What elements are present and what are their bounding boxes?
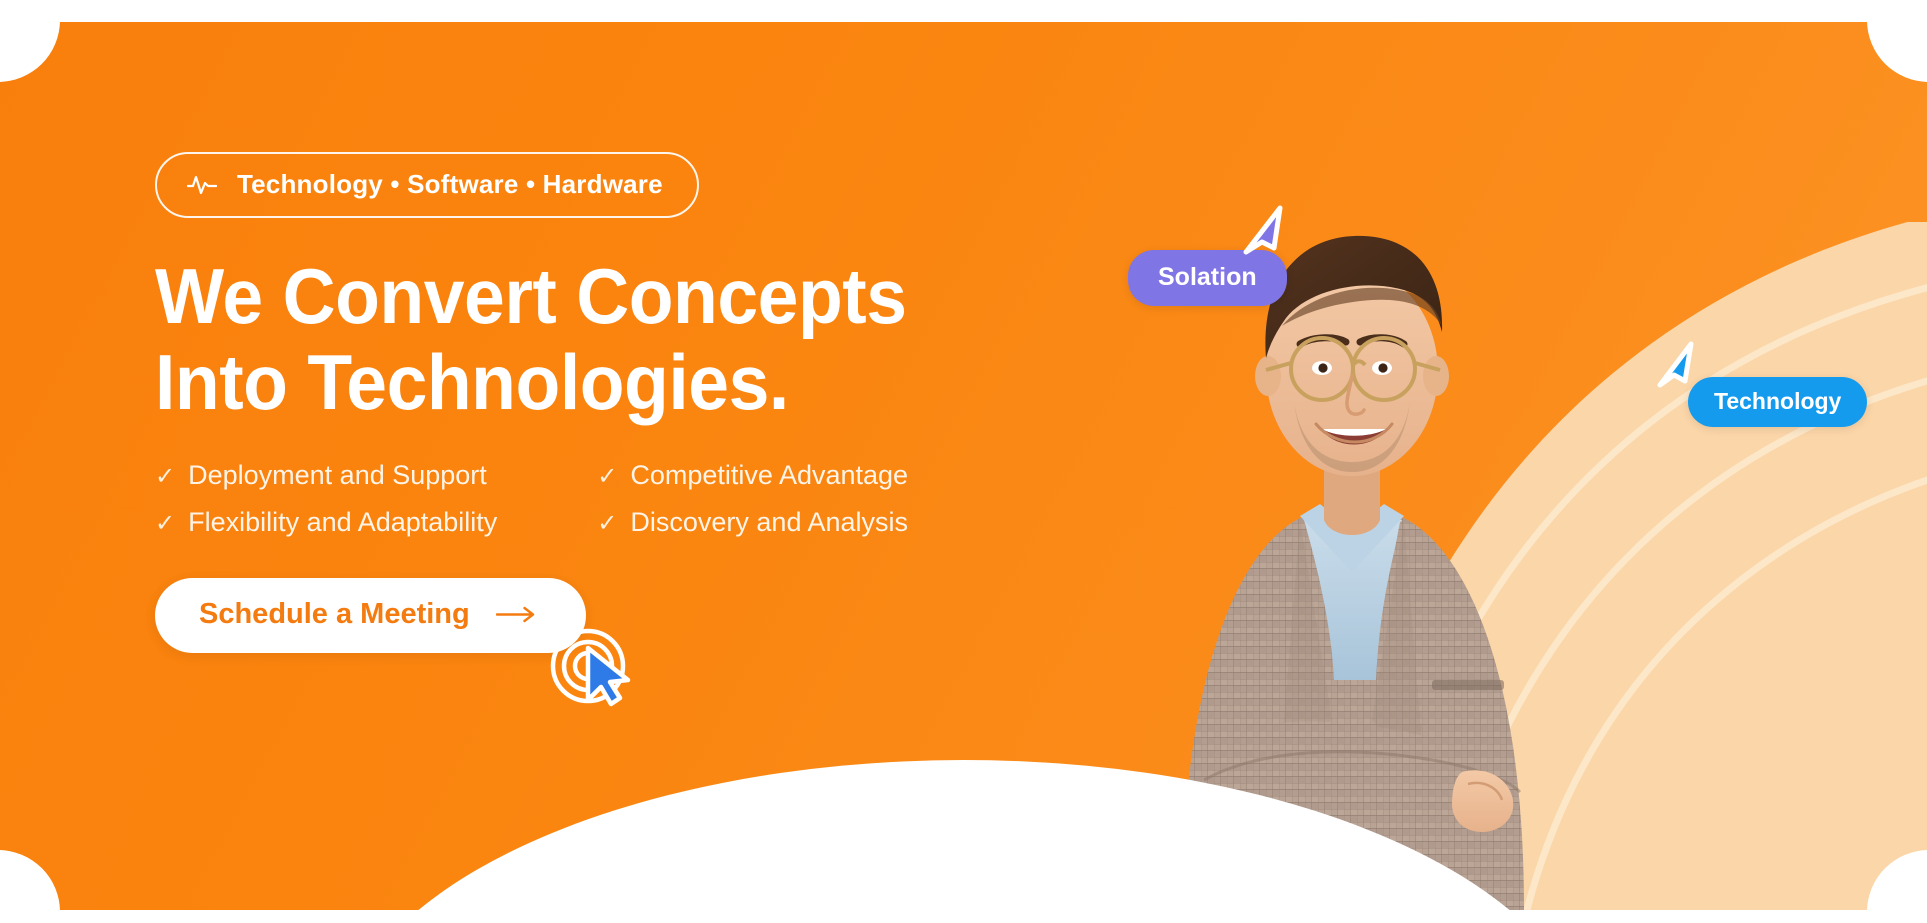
schedule-meeting-button[interactable]: Schedule a Meeting [155, 578, 586, 653]
feature-label: Competitive Advantage [630, 460, 908, 491]
headline-line-1: We Convert Concepts [155, 254, 1048, 340]
eyebrow-label: Technology • Software • Hardware [237, 169, 663, 200]
feature-label: Flexibility and Adaptability [188, 507, 497, 538]
feature-label: Discovery and Analysis [630, 507, 908, 538]
tag-technology[interactable]: Technology [1688, 377, 1867, 427]
corner-bottom-right [1867, 850, 1927, 910]
eyebrow-badge[interactable]: Technology • Software • Hardware [155, 152, 699, 218]
check-icon: ✓ [155, 465, 175, 489]
feature-item: ✓ Flexibility and Adaptability [155, 507, 497, 538]
tag-solation-label: Solation [1158, 263, 1257, 291]
corner-top-left [0, 22, 60, 82]
feature-column-right: ✓ Competitive Advantage ✓ Discovery and … [597, 460, 908, 538]
feature-column-left: ✓ Deployment and Support ✓ Flexibility a… [155, 460, 497, 538]
corner-bottom-left [0, 850, 60, 910]
cursor-pointer-icon-technology [1655, 340, 1697, 392]
check-icon: ✓ [597, 465, 617, 489]
cursor-pointer-icon-solation [1240, 204, 1286, 260]
page-title: We Convert Concepts Into Technologies. [155, 254, 1048, 426]
orange-hero-panel: Solation Technology Technology • Softwar… [0, 22, 1927, 910]
headline-line-2: Into Technologies. [155, 340, 1048, 426]
check-icon: ✓ [155, 512, 175, 536]
pulse-activity-icon [187, 174, 217, 196]
corner-top-right [1867, 22, 1927, 82]
schedule-meeting-label: Schedule a Meeting [199, 598, 470, 631]
cta-row: Schedule a Meeting [155, 578, 586, 653]
feature-list: ✓ Deployment and Support ✓ Flexibility a… [155, 460, 1105, 538]
tag-technology-label: Technology [1714, 388, 1841, 414]
check-icon: ✓ [597, 512, 617, 536]
arrow-right-icon [496, 606, 536, 623]
feature-item: ✓ Competitive Advantage [597, 460, 908, 491]
feature-label: Deployment and Support [188, 460, 487, 491]
hero-banner-page: Solation Technology Technology • Softwar… [0, 0, 1927, 923]
feature-item: ✓ Deployment and Support [155, 460, 497, 491]
feature-item: ✓ Discovery and Analysis [597, 507, 908, 538]
hero-content: Technology • Software • Hardware We Conv… [155, 152, 1105, 653]
